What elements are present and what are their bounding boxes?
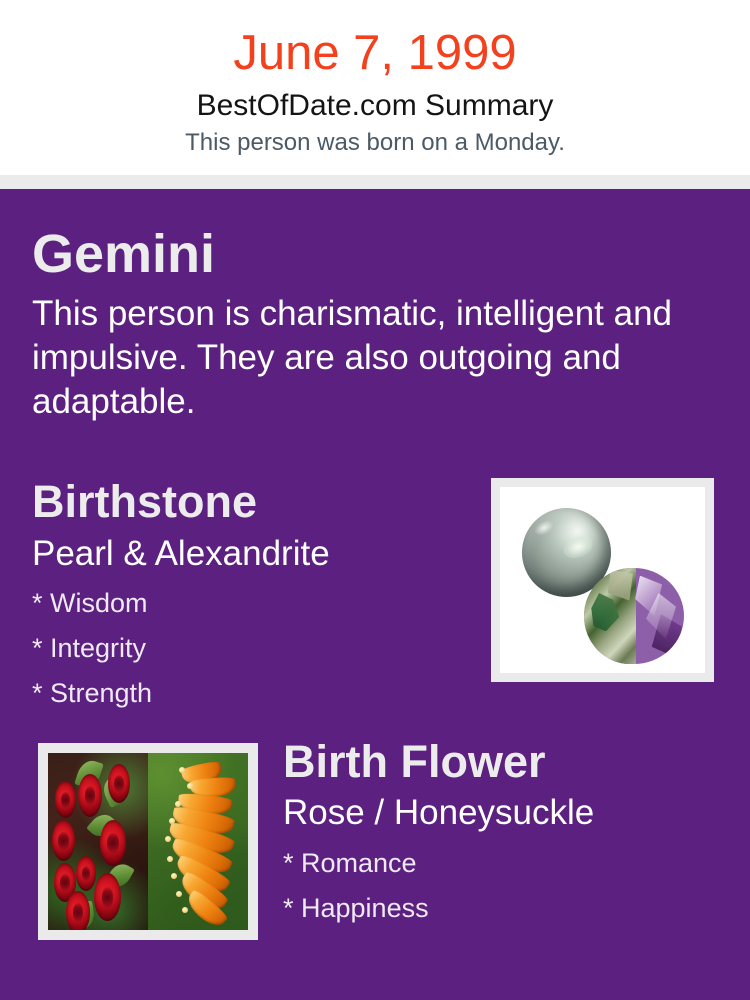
roses-photo-half (48, 753, 148, 930)
born-day-text: This person was born on a Monday. (0, 128, 750, 158)
list-item: * Happiness (283, 886, 703, 931)
list-item: * Wisdom (32, 581, 452, 626)
list-item: * Strength (32, 671, 452, 716)
card-header: June 7, 1999 BestOfDate.com Summary This… (0, 0, 750, 175)
birthstone-image-frame (491, 478, 714, 682)
zodiac-sign-heading: Gemini (32, 225, 215, 283)
header-divider (0, 175, 750, 189)
alexandrite-gem-icon (584, 568, 684, 664)
site-summary-label: BestOfDate.com Summary (0, 88, 750, 124)
birthstone-heading: Birthstone (32, 477, 257, 527)
birth-flower-names: Rose / Honeysuckle (283, 793, 594, 833)
honeysuckle-photo-half (148, 753, 248, 930)
date-summary-card: June 7, 1999 BestOfDate.com Summary This… (0, 0, 750, 1000)
birthstone-names: Pearl & Alexandrite (32, 534, 330, 574)
birthstone-trait-list: * Wisdom * Integrity * Strength (32, 581, 452, 716)
zodiac-description: This person is charismatic, intelligent … (32, 292, 700, 424)
list-item: * Integrity (32, 626, 452, 671)
birth-flower-image-frame (38, 743, 258, 940)
birth-flower-trait-list: * Romance * Happiness (283, 841, 703, 931)
gem-rough-half (584, 568, 636, 664)
birthstone-image (500, 487, 705, 673)
list-item: * Romance (283, 841, 703, 886)
birth-flower-image (48, 753, 248, 930)
page-title: June 7, 1999 (0, 25, 750, 81)
gem-body (584, 568, 684, 664)
birth-flower-heading: Birth Flower (283, 737, 546, 787)
